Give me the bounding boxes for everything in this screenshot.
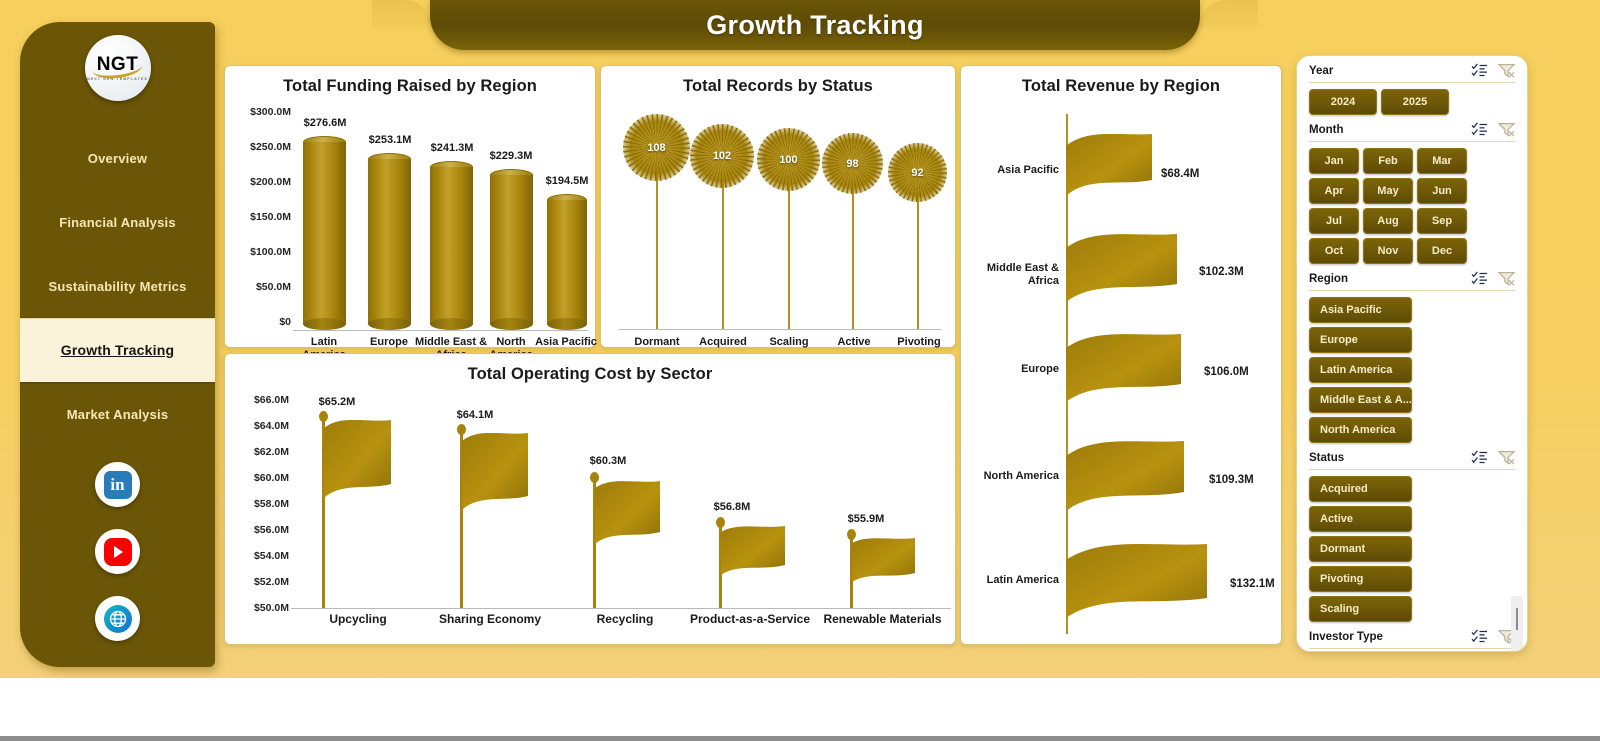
chip-status-active[interactable]: Active: [1309, 506, 1412, 532]
chip-year-2024[interactable]: 2024: [1309, 89, 1377, 115]
chip-status-dormant[interactable]: Dormant: [1309, 536, 1412, 562]
banner-europe[interactable]: [1066, 334, 1181, 402]
bar-label-north-america: $229.3M: [476, 150, 546, 162]
row-value-asia-pacific: $68.4M: [1161, 168, 1199, 180]
filter-group-status: Status: [1297, 443, 1527, 622]
chart-title: Total Operating Cost by Sector: [225, 354, 955, 384]
row-value-middle-east-africa: $102.3M: [1199, 266, 1244, 278]
banner-latin-america[interactable]: [1066, 544, 1207, 618]
sidebar-nav: Overview Financial Analysis Sustainabili…: [20, 126, 215, 446]
chart-card-operating-cost: Total Operating Cost by Sector $66.0M $6…: [224, 353, 956, 645]
globe-icon: [104, 605, 132, 633]
banner-asia-pacific[interactable]: [1066, 134, 1152, 196]
chip-month-feb[interactable]: Feb: [1363, 148, 1413, 174]
row-value-latin-america: $132.1M: [1230, 578, 1275, 590]
social-links: in: [20, 462, 215, 663]
sidebar-item-label: Market Analysis: [67, 407, 169, 422]
row-label-latin-america: Latin America: [971, 574, 1059, 587]
chip-month-sep[interactable]: Sep: [1417, 208, 1467, 234]
multi-select-icon[interactable]: [1471, 450, 1488, 465]
sidebar-item-growth-tracking[interactable]: Growth Tracking: [20, 318, 215, 382]
dashboard-root: Growth Tracking NGT NEXT GEN TEMPLATES O…: [0, 0, 1600, 741]
filter-title-status: Status: [1309, 452, 1344, 464]
bottom-white-strip: [0, 678, 1600, 736]
value-acquired: 102: [713, 150, 731, 162]
chip-region-middle-east-africa[interactable]: Middle East & A...: [1309, 387, 1412, 413]
youtube-icon: [104, 538, 132, 566]
filter-title-year: Year: [1309, 65, 1333, 77]
bar-north-america[interactable]: [490, 169, 533, 330]
cat-label-product-as-a-service: Product-as-a-Service: [675, 613, 825, 627]
filter-title-month: Month: [1309, 124, 1343, 136]
linkedin-icon: in: [104, 471, 132, 499]
row-value-north-america: $109.3M: [1209, 474, 1254, 486]
value-active: 98: [846, 158, 858, 170]
value-dormant: 108: [647, 142, 665, 154]
cat-label-sharing-economy: Sharing Economy: [425, 613, 555, 627]
chip-year-2025[interactable]: 2025: [1381, 89, 1449, 115]
filter-group-month: Month: [1297, 115, 1527, 264]
records-baseline: [619, 329, 941, 330]
chip-status-scaling[interactable]: Scaling: [1309, 596, 1412, 622]
filter-title-investor-type: Investor Type: [1309, 631, 1383, 643]
flag-product-as-a-service[interactable]: [721, 526, 785, 575]
chart-card-total-records: Total Records by Status 108 102 100 98: [600, 65, 956, 348]
sidebar-item-label: Sustainability Metrics: [48, 279, 186, 294]
opcost-y-axis: $66.0M $64.0M $62.0M $60.0M $58.0M $56.0…: [231, 392, 289, 604]
chip-region-north-america[interactable]: North America: [1309, 417, 1412, 443]
stem-pivoting: [917, 196, 919, 329]
chip-month-may[interactable]: May: [1363, 178, 1413, 204]
filter-group-investor-type: Investor Type: [1297, 622, 1527, 652]
marker-pivoting[interactable]: 92: [888, 143, 947, 202]
filter-chips-year: 2024 2025: [1309, 89, 1515, 115]
cat-label-pivoting: Pivoting: [885, 336, 953, 349]
marker-active[interactable]: 98: [822, 133, 883, 194]
bar-label-asia-pacific: $194.5M: [532, 175, 602, 187]
filter-chips-region: Asia Pacific Europe Latin America Middle…: [1309, 297, 1515, 443]
bar-latin-america[interactable]: [303, 136, 346, 330]
page-title: Growth Tracking: [706, 10, 924, 41]
filter-chips-month: Jan Feb Mar Apr May Jun Jul Aug Sep Oct …: [1309, 148, 1515, 264]
bar-label-latin-america: $276.6M: [290, 117, 360, 129]
chart-card-total-revenue: Total Revenue by Region Asia Pacific $68…: [960, 65, 1282, 645]
row-label-asia-pacific: Asia Pacific: [971, 164, 1059, 177]
filter-group-region: Region: [1297, 264, 1527, 443]
cat-label-europe: Europe: [358, 336, 420, 349]
value-pivoting: 92: [911, 167, 923, 179]
multi-select-icon[interactable]: [1471, 629, 1488, 644]
chip-month-jun[interactable]: Jun: [1417, 178, 1467, 204]
multi-select-icon[interactable]: [1471, 122, 1488, 137]
stem-dormant: [656, 169, 658, 329]
chip-region-asia-pacific[interactable]: Asia Pacific: [1309, 297, 1412, 323]
opcost-baseline: [291, 608, 951, 609]
chip-region-europe[interactable]: Europe: [1309, 327, 1412, 353]
chip-month-jan[interactable]: Jan: [1309, 148, 1359, 174]
chip-month-jul[interactable]: Jul: [1309, 208, 1359, 234]
main-content: Total Funding Raised by Region $300.0M $…: [215, 22, 1290, 667]
marker-dormant[interactable]: 108: [623, 114, 690, 181]
filter-chips-status: Acquired Active Dormant Pivoting Scaling: [1309, 476, 1515, 622]
flag-recycling[interactable]: [595, 481, 660, 544]
stem-acquired: [722, 178, 724, 329]
sidebar: NGT NEXT GEN TEMPLATES Overview Financia…: [20, 22, 215, 667]
chip-month-aug[interactable]: Aug: [1363, 208, 1413, 234]
page-header: Growth Tracking: [430, 0, 1200, 50]
cat-label-recycling: Recycling: [570, 613, 680, 627]
cat-label-upcycling: Upcycling: [303, 613, 413, 627]
clear-filter-icon[interactable]: [1498, 63, 1515, 78]
marker-acquired[interactable]: 102: [690, 124, 754, 188]
bar-asia-pacific[interactable]: [547, 194, 587, 330]
cat-label-asia-pacific: Asia Pacific: [535, 336, 597, 349]
linkedin-button[interactable]: in: [95, 462, 140, 507]
flag-label-sharing-economy: $64.1M: [435, 409, 515, 421]
clear-filter-icon[interactable]: [1498, 122, 1515, 137]
sidebar-item-label: Financial Analysis: [59, 215, 176, 230]
chip-month-dec[interactable]: Dec: [1417, 238, 1467, 264]
brand-logo: NGT NEXT GEN TEMPLATES: [85, 35, 151, 101]
chart-title: Total Revenue by Region: [961, 66, 1281, 96]
sidebar-item-market-analysis[interactable]: Market Analysis: [20, 382, 215, 446]
chip-status-acquired[interactable]: Acquired: [1309, 476, 1412, 502]
chip-region-latin-america[interactable]: Latin America: [1309, 357, 1412, 383]
row-value-europe: $106.0M: [1204, 366, 1249, 378]
bar-label-europe: $253.1M: [355, 134, 425, 146]
sidebar-item-label: Growth Tracking: [61, 342, 174, 358]
chip-month-nov[interactable]: Nov: [1363, 238, 1413, 264]
website-button[interactable]: [95, 596, 140, 641]
funding-baseline: [293, 330, 588, 331]
flag-label-recycling: $60.3M: [568, 455, 648, 467]
flag-sharing-economy[interactable]: [462, 433, 528, 510]
row-label-middle-east-africa: Middle East & Africa: [971, 262, 1059, 288]
chip-status-pivoting[interactable]: Pivoting: [1309, 566, 1412, 592]
flag-upcycling[interactable]: [324, 420, 391, 498]
sidebar-item-overview[interactable]: Overview: [20, 126, 215, 190]
bottom-border: [0, 736, 1600, 741]
multi-select-icon[interactable]: [1471, 63, 1488, 78]
bar-middle-east-africa[interactable]: [430, 161, 473, 330]
chip-month-oct[interactable]: Oct: [1309, 238, 1359, 264]
clear-filter-icon[interactable]: [1498, 271, 1515, 286]
cat-label-renewable-materials: Renewable Materials: [810, 613, 955, 627]
filter-title-region: Region: [1309, 273, 1348, 285]
cat-label-acquired: Acquired: [689, 336, 757, 349]
chart-title: Total Funding Raised by Region: [225, 66, 595, 96]
cat-label-scaling: Scaling: [755, 336, 823, 349]
cat-label-dormant: Dormant: [623, 336, 691, 349]
bar-europe[interactable]: [368, 153, 411, 330]
sidebar-item-label: Overview: [88, 151, 147, 166]
banner-north-america[interactable]: [1066, 441, 1184, 511]
sidebar-item-sustainability-metrics[interactable]: Sustainability Metrics: [20, 254, 215, 318]
youtube-button[interactable]: [95, 529, 140, 574]
marker-scaling[interactable]: 100: [757, 128, 820, 191]
filter-panel-scrollbar[interactable]: [1511, 596, 1523, 652]
banner-middle-east-africa[interactable]: [1066, 234, 1177, 302]
filter-panel: Year: [1296, 55, 1528, 652]
flag-renewable-materials[interactable]: [852, 538, 915, 582]
chart-card-total-funding: Total Funding Raised by Region $300.0M $…: [224, 65, 596, 348]
cat-label-active: Active: [820, 336, 888, 349]
flag-label-upcycling: $65.2M: [297, 396, 377, 408]
flag-label-renewable-materials: $55.9M: [826, 513, 906, 525]
row-label-north-america: North America: [971, 470, 1059, 483]
stem-active: [852, 187, 854, 329]
row-label-europe: Europe: [971, 363, 1059, 376]
funding-y-axis: $300.0M $250.0M $200.0M $150.0M $100.0M …: [233, 104, 291, 314]
chip-month-mar[interactable]: Mar: [1417, 148, 1467, 174]
sidebar-item-financial-analysis[interactable]: Financial Analysis: [20, 190, 215, 254]
stem-scaling: [788, 182, 790, 329]
clear-filter-icon[interactable]: [1498, 450, 1515, 465]
chart-title: Total Records by Status: [601, 66, 955, 96]
value-scaling: 100: [779, 154, 797, 166]
filter-group-year: Year: [1297, 56, 1527, 115]
chip-month-apr[interactable]: Apr: [1309, 178, 1359, 204]
multi-select-icon[interactable]: [1471, 271, 1488, 286]
flag-label-product-as-a-service: $56.8M: [692, 501, 772, 513]
